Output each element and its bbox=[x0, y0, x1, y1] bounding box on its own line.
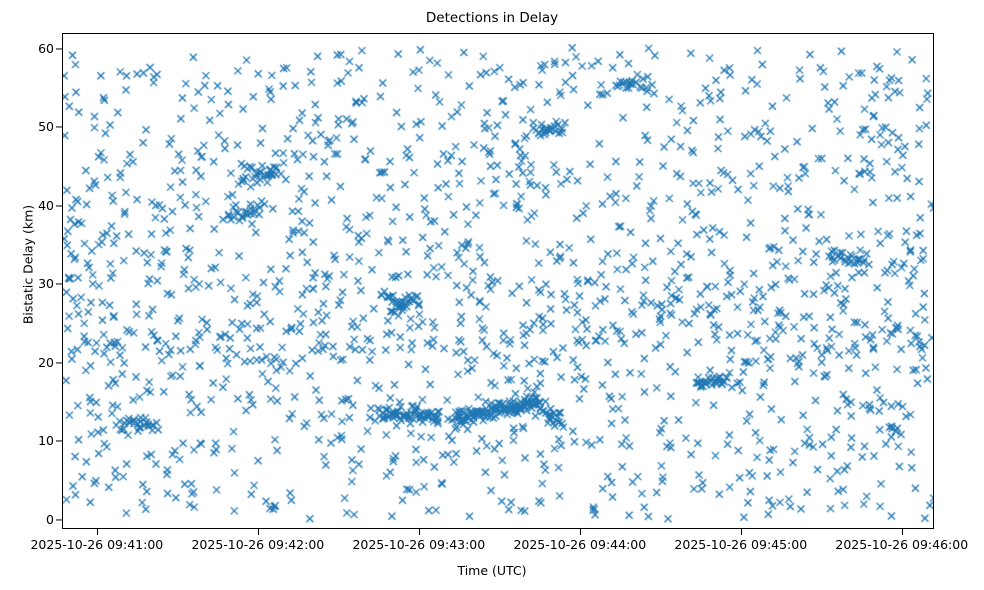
y-tick-mark bbox=[56, 127, 62, 128]
y-tick-label: 0 bbox=[14, 513, 54, 526]
x-tick-label: 2025-10-26 09:46:00 bbox=[802, 539, 984, 552]
y-axis-label: Bistatic Delay (km) bbox=[21, 115, 36, 415]
x-axis-label: Time (UTC) bbox=[0, 563, 984, 578]
y-tick-label: 10 bbox=[14, 435, 54, 448]
y-tick-mark bbox=[56, 284, 62, 285]
y-tick-mark bbox=[56, 441, 62, 442]
y-tick-mark bbox=[56, 519, 62, 520]
x-tick-mark bbox=[258, 529, 259, 535]
x-tick-mark bbox=[97, 529, 98, 535]
x-tick-mark bbox=[580, 529, 581, 535]
y-tick-mark bbox=[56, 205, 62, 206]
y-tick-mark bbox=[56, 362, 62, 363]
plot-axes-area bbox=[62, 33, 934, 529]
x-tick-mark bbox=[902, 529, 903, 535]
x-tick-mark bbox=[741, 529, 742, 535]
page-title: Detections in Delay bbox=[0, 10, 984, 26]
x-tick-mark bbox=[419, 529, 420, 535]
scatter-plot-canvas bbox=[63, 34, 934, 529]
y-tick-label: 60 bbox=[14, 42, 54, 55]
y-tick-mark bbox=[56, 48, 62, 49]
matplotlib-figure: Detections in Delay 0102030405060 2025-1… bbox=[0, 0, 984, 590]
